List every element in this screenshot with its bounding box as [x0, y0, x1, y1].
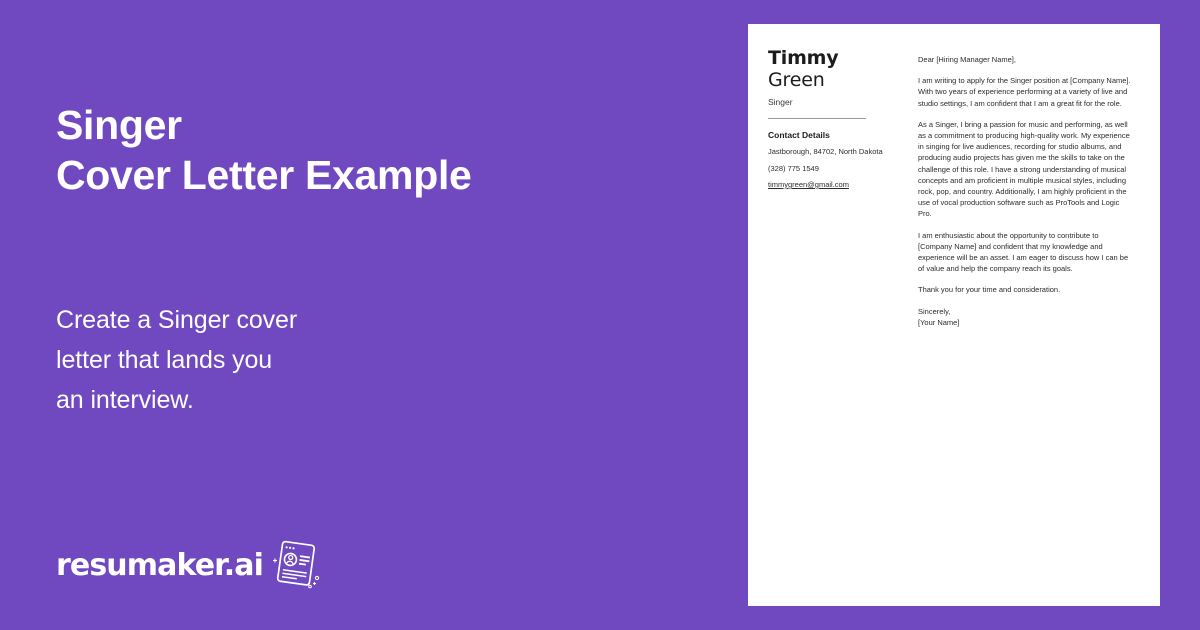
sidebar-divider: [768, 118, 866, 119]
logo-wordmark: resumaker.ai: [56, 550, 263, 582]
letter-signature: [Your Name]: [918, 317, 1132, 328]
contact-phone: (328) 775 1549: [768, 164, 892, 175]
resume-document-icon: [267, 537, 321, 589]
candidate-first-name: Timmy: [768, 48, 892, 69]
letter-closing: Sincerely,: [918, 306, 1132, 317]
letter-paragraph-2: As a Singer, I bring a passion for music…: [918, 119, 1132, 220]
letter-paragraph-4: Thank you for your time and consideratio…: [918, 284, 1132, 295]
contact-address: Jastborough, 84702, North Dakota: [768, 147, 892, 158]
letter-sidebar: Timmy Green Singer Contact Details Jastb…: [768, 48, 892, 191]
promo-panel: Singer Cover Letter Example Create a Sin…: [0, 0, 748, 630]
letter-salutation: Dear [Hiring Manager Name],: [918, 54, 1132, 65]
candidate-job-title: Singer: [768, 97, 892, 108]
candidate-last-name: Green: [768, 69, 892, 91]
promo-subheading: Create a Singer cover letter that lands …: [56, 300, 297, 420]
contact-details-heading: Contact Details: [768, 130, 892, 141]
contact-email[interactable]: timmygreen@gmail.com: [768, 180, 892, 191]
resumaker-logo[interactable]: resumaker.ai: [56, 543, 321, 589]
letter-paragraph-1: I am writing to apply for the Singer pos…: [918, 75, 1132, 109]
promo-banner: Singer Cover Letter Example Create a Sin…: [0, 0, 1200, 630]
letter-body: Dear [Hiring Manager Name], I am writing…: [918, 54, 1132, 328]
cover-letter-preview[interactable]: Timmy Green Singer Contact Details Jastb…: [748, 24, 1160, 606]
page-title: Singer Cover Letter Example: [56, 100, 472, 200]
letter-paragraph-3: I am enthusiastic about the opportunity …: [918, 230, 1132, 275]
